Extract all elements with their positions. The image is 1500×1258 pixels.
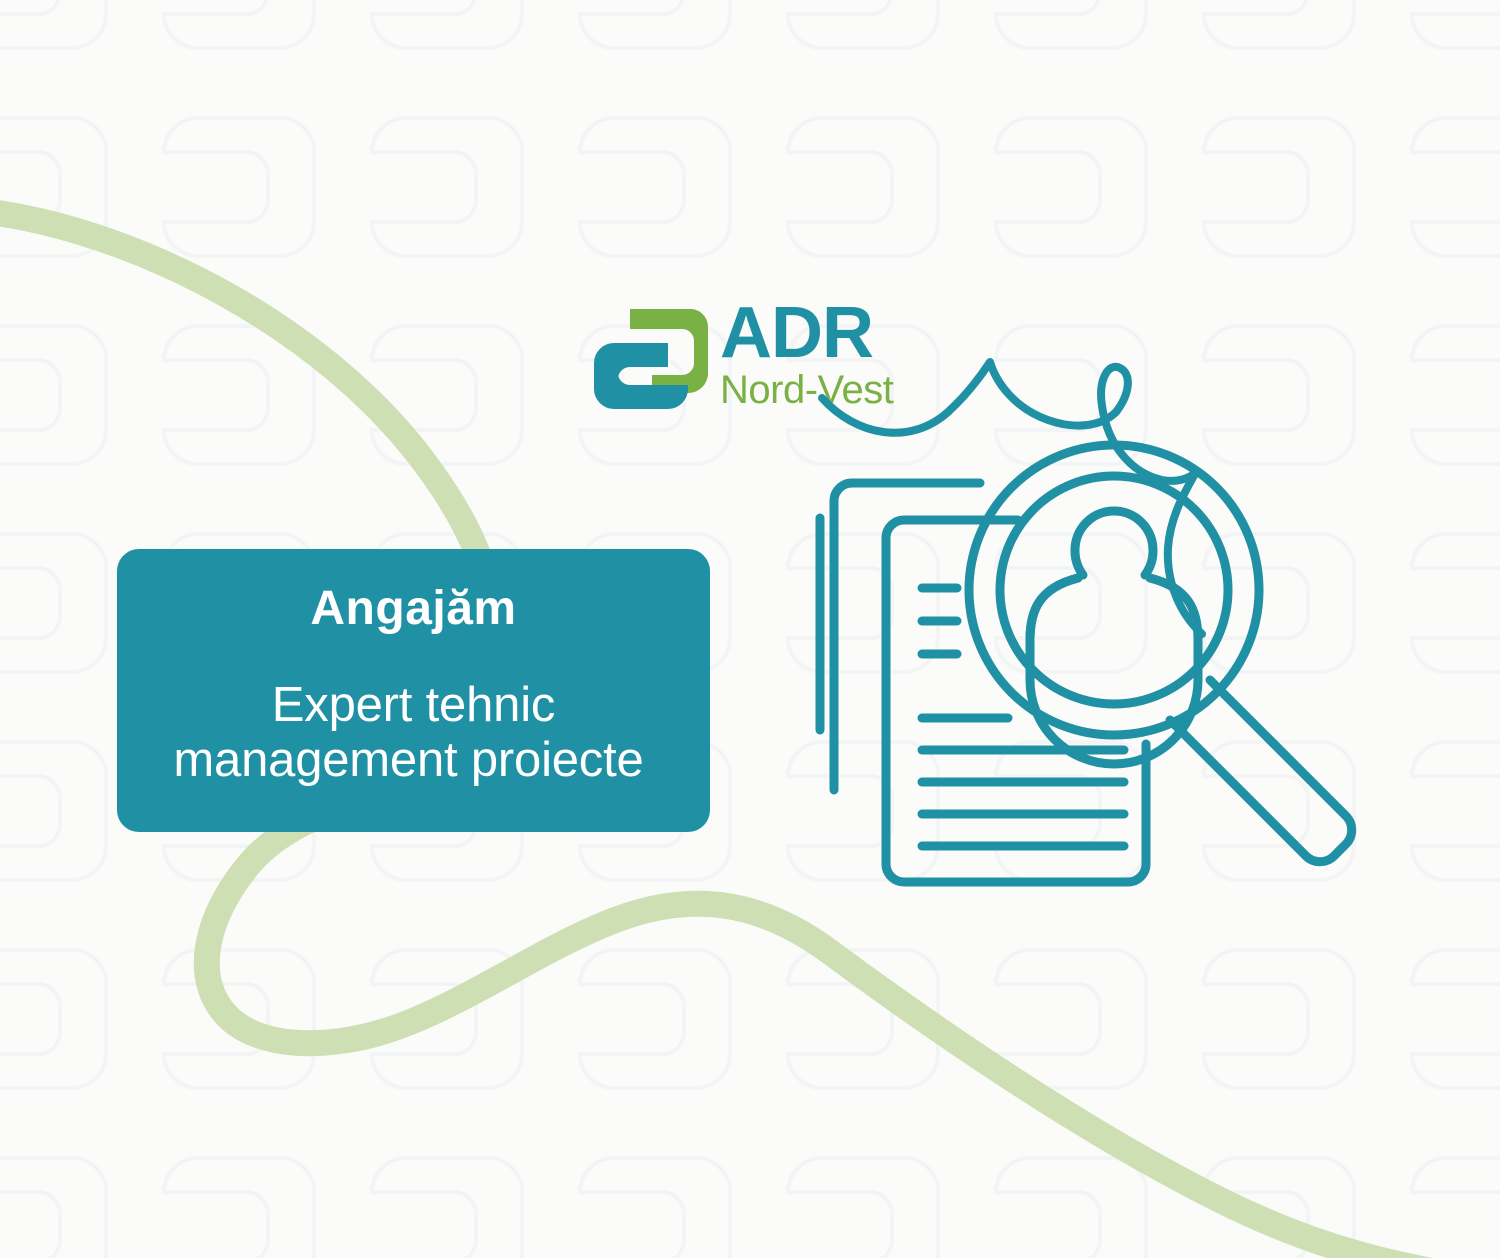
document-short-dash-lines xyxy=(922,588,957,654)
job-title-line-1: Expert tehnic xyxy=(178,678,648,733)
magnifier-handle xyxy=(1170,680,1352,862)
headline-eyebrow: Angajăm xyxy=(310,583,516,636)
brand-name: ADR xyxy=(720,300,893,366)
person-body-left xyxy=(1030,578,1078,680)
person-silhouette xyxy=(1030,511,1198,764)
cv-search-illustration xyxy=(790,350,1410,910)
headline-card: Angajăm Expert tehnic management proiect… xyxy=(117,549,710,832)
brand-wordmark: ADR Nord-Vest xyxy=(720,300,893,410)
job-title: Expert tehnic management proiecte xyxy=(178,678,648,788)
magnifier-inner-ring xyxy=(1000,476,1228,704)
person-head xyxy=(1075,511,1153,575)
job-posting-poster: ADR Nord-Vest Angajăm Expert tehnic mana… xyxy=(0,0,1500,1258)
document-front-sheet xyxy=(886,520,1146,882)
job-title-line-2: management proiecte xyxy=(173,733,643,788)
brand-subtitle: Nord-Vest xyxy=(720,370,893,410)
person-body xyxy=(1030,578,1198,764)
magnifier-outer-ring xyxy=(969,445,1259,735)
adr-nord-vest-logo-mark xyxy=(592,307,708,411)
brand-logo: ADR Nord-Vest xyxy=(592,300,912,420)
document-text-lines xyxy=(922,718,1124,846)
document-middle-sheet xyxy=(834,483,980,790)
